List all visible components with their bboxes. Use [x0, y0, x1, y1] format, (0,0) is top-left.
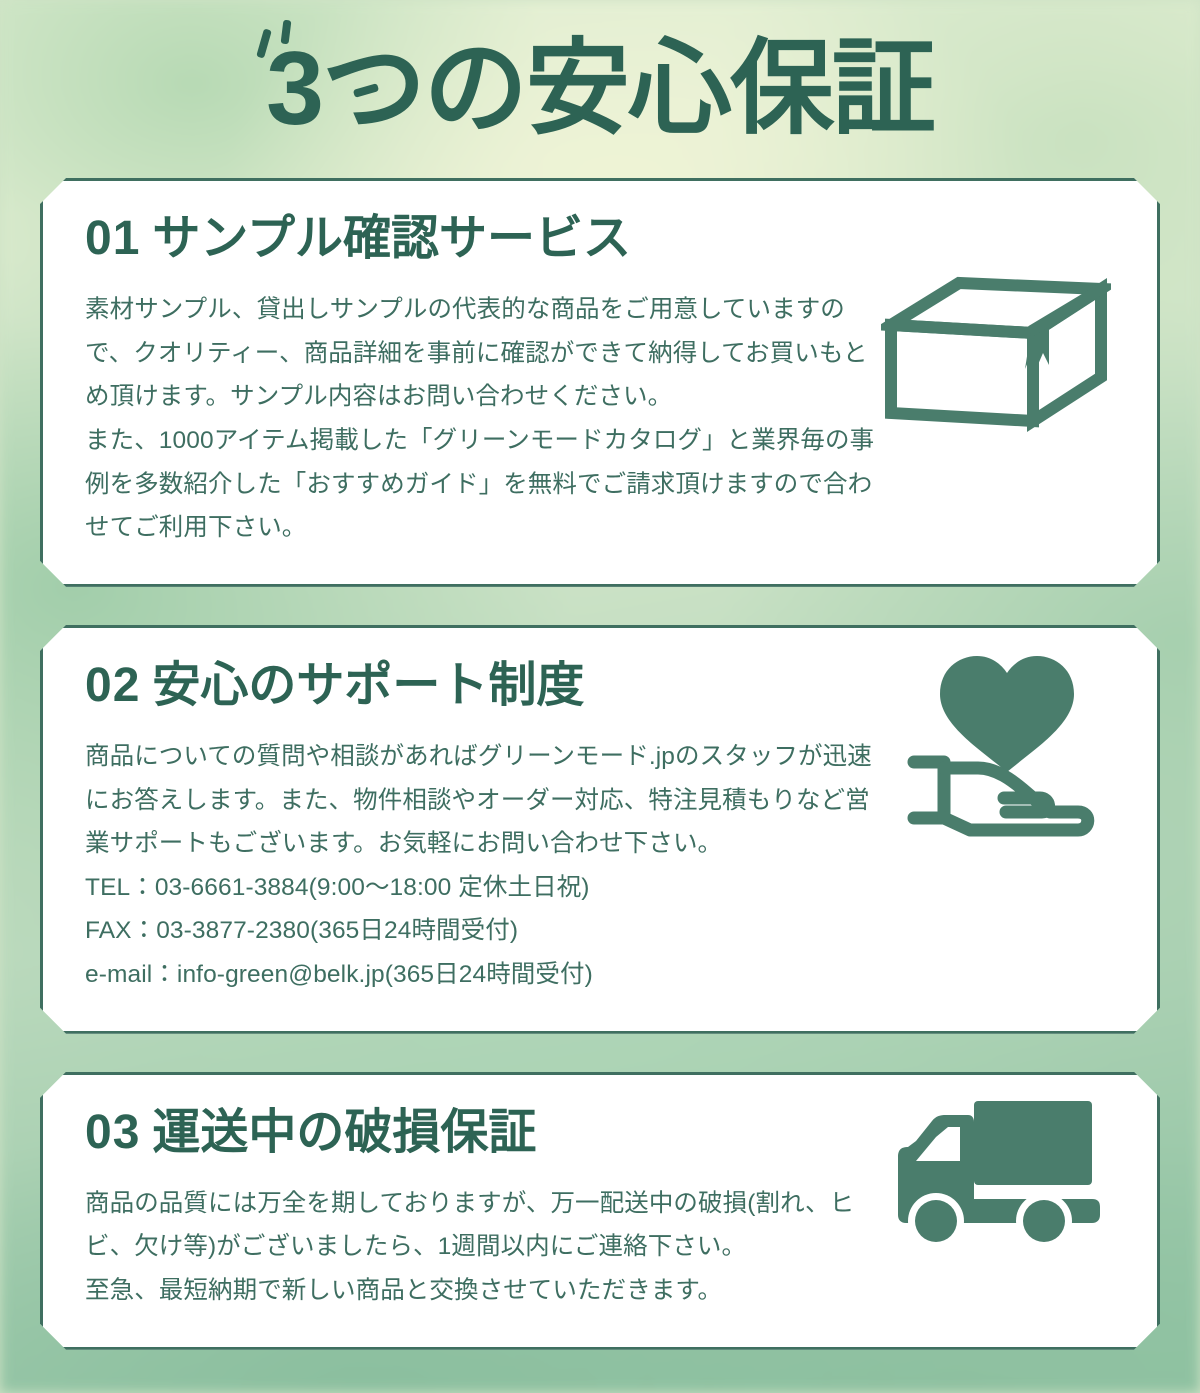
page-title: 3つの安心保証 — [266, 34, 934, 144]
card-03-paragraph: 商品の品質には万全を期しておりますが、万一配送中の破損(割れ、ヒビ、欠け等)がご… — [85, 1182, 885, 1269]
card-01-heading-text: サンプル確認サービス — [152, 212, 631, 265]
card-01-paragraph: 素材サンプル、貸出しサンプルの代表的な商品をご用意していますので、クオリティー、… — [85, 288, 885, 419]
guarantee-page: 3つの安心保証 01サンプル確認サービス 素材サンプル、貸出しサンプルの代表的な… — [0, 0, 1200, 1393]
card-02-tel: TEL：03-6661-3884(9:00〜18:00 定休土日祝) — [85, 866, 885, 910]
card-02-paragraph: 商品についての質問や相談があればグリーンモード.jpのスタッフが迅速にお答えしま… — [85, 735, 885, 866]
guarantee-card-01: 01サンプル確認サービス 素材サンプル、貸出しサンプルの代表的な商品をご用意して… — [40, 178, 1160, 587]
guarantee-card-03: 03運送中の破損保証 商品の品質には万全を期しておりますが、万一配送中の破損(割… — [40, 1072, 1160, 1350]
page-title-area: 3つの安心保証 — [0, 0, 1200, 178]
card-02-body: 商品についての質問や相談があればグリーンモード.jpのスタッフが迅速にお答えしま… — [85, 735, 885, 997]
card-01-number: 01 — [85, 212, 140, 265]
card-03-body: 商品の品質には万全を期しておりますが、万一配送中の破損(割れ、ヒビ、欠け等)がご… — [85, 1182, 885, 1313]
card-02-heading: 02安心のサポート制度 — [85, 658, 1115, 713]
card-01-body: 素材サンプル、貸出しサンプルの代表的な商品をご用意していますので、クオリティー、… — [85, 288, 885, 550]
card-03-heading-text: 運送中の破損保証 — [152, 1106, 536, 1159]
card-02-number: 02 — [85, 659, 140, 712]
card-01-paragraph: また、1000アイテム掲載した「グリーンモードカタログ」と業界毎の事例を多数紹介… — [85, 419, 885, 550]
card-02-heading-text: 安心のサポート制度 — [152, 659, 584, 712]
card-03-paragraph: 至急、最短納期で新しい商品と交換させていただきます。 — [85, 1269, 885, 1313]
guarantee-card-02: 02安心のサポート制度 商品についての質問や相談があればグリーンモード.jpのス… — [40, 625, 1160, 1034]
card-02-email: e-mail：info-green@belk.jp(365日24時間受付) — [85, 953, 885, 997]
card-01-heading: 01サンプル確認サービス — [85, 211, 1115, 266]
card-02-fax: FAX：03-3877-2380(365日24時間受付) — [85, 909, 885, 953]
card-03-heading: 03運送中の破損保証 — [85, 1105, 1115, 1160]
card-03-number: 03 — [85, 1106, 140, 1159]
